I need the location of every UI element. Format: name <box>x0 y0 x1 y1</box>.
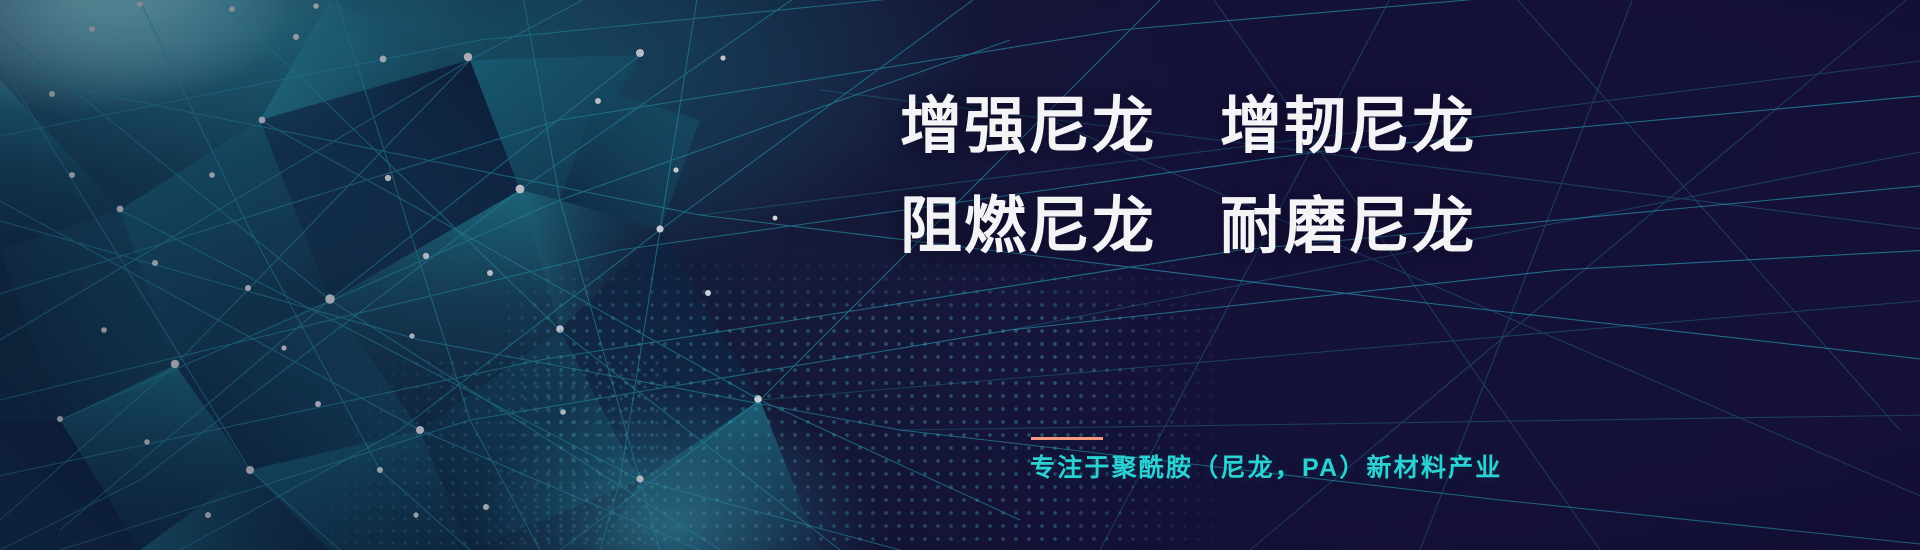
banner-content: 增强尼龙 增韧尼龙 阻燃尼龙 耐磨尼龙 专注于聚酰胺（尼龙，PA）新材料产业 <box>0 0 1920 550</box>
accent-rule-divider <box>1031 437 1103 440</box>
headline-line-2: 阻燃尼龙 耐磨尼龙 <box>900 196 1476 258</box>
hero-banner: 增强尼龙 增韧尼龙 阻燃尼龙 耐磨尼龙 专注于聚酰胺（尼龙，PA）新材料产业 <box>0 0 1920 550</box>
headline-line-1: 增强尼龙 增韧尼龙 <box>900 96 1476 158</box>
banner-subtitle: 专注于聚酰胺（尼龙，PA）新材料产业 <box>1030 452 1502 485</box>
